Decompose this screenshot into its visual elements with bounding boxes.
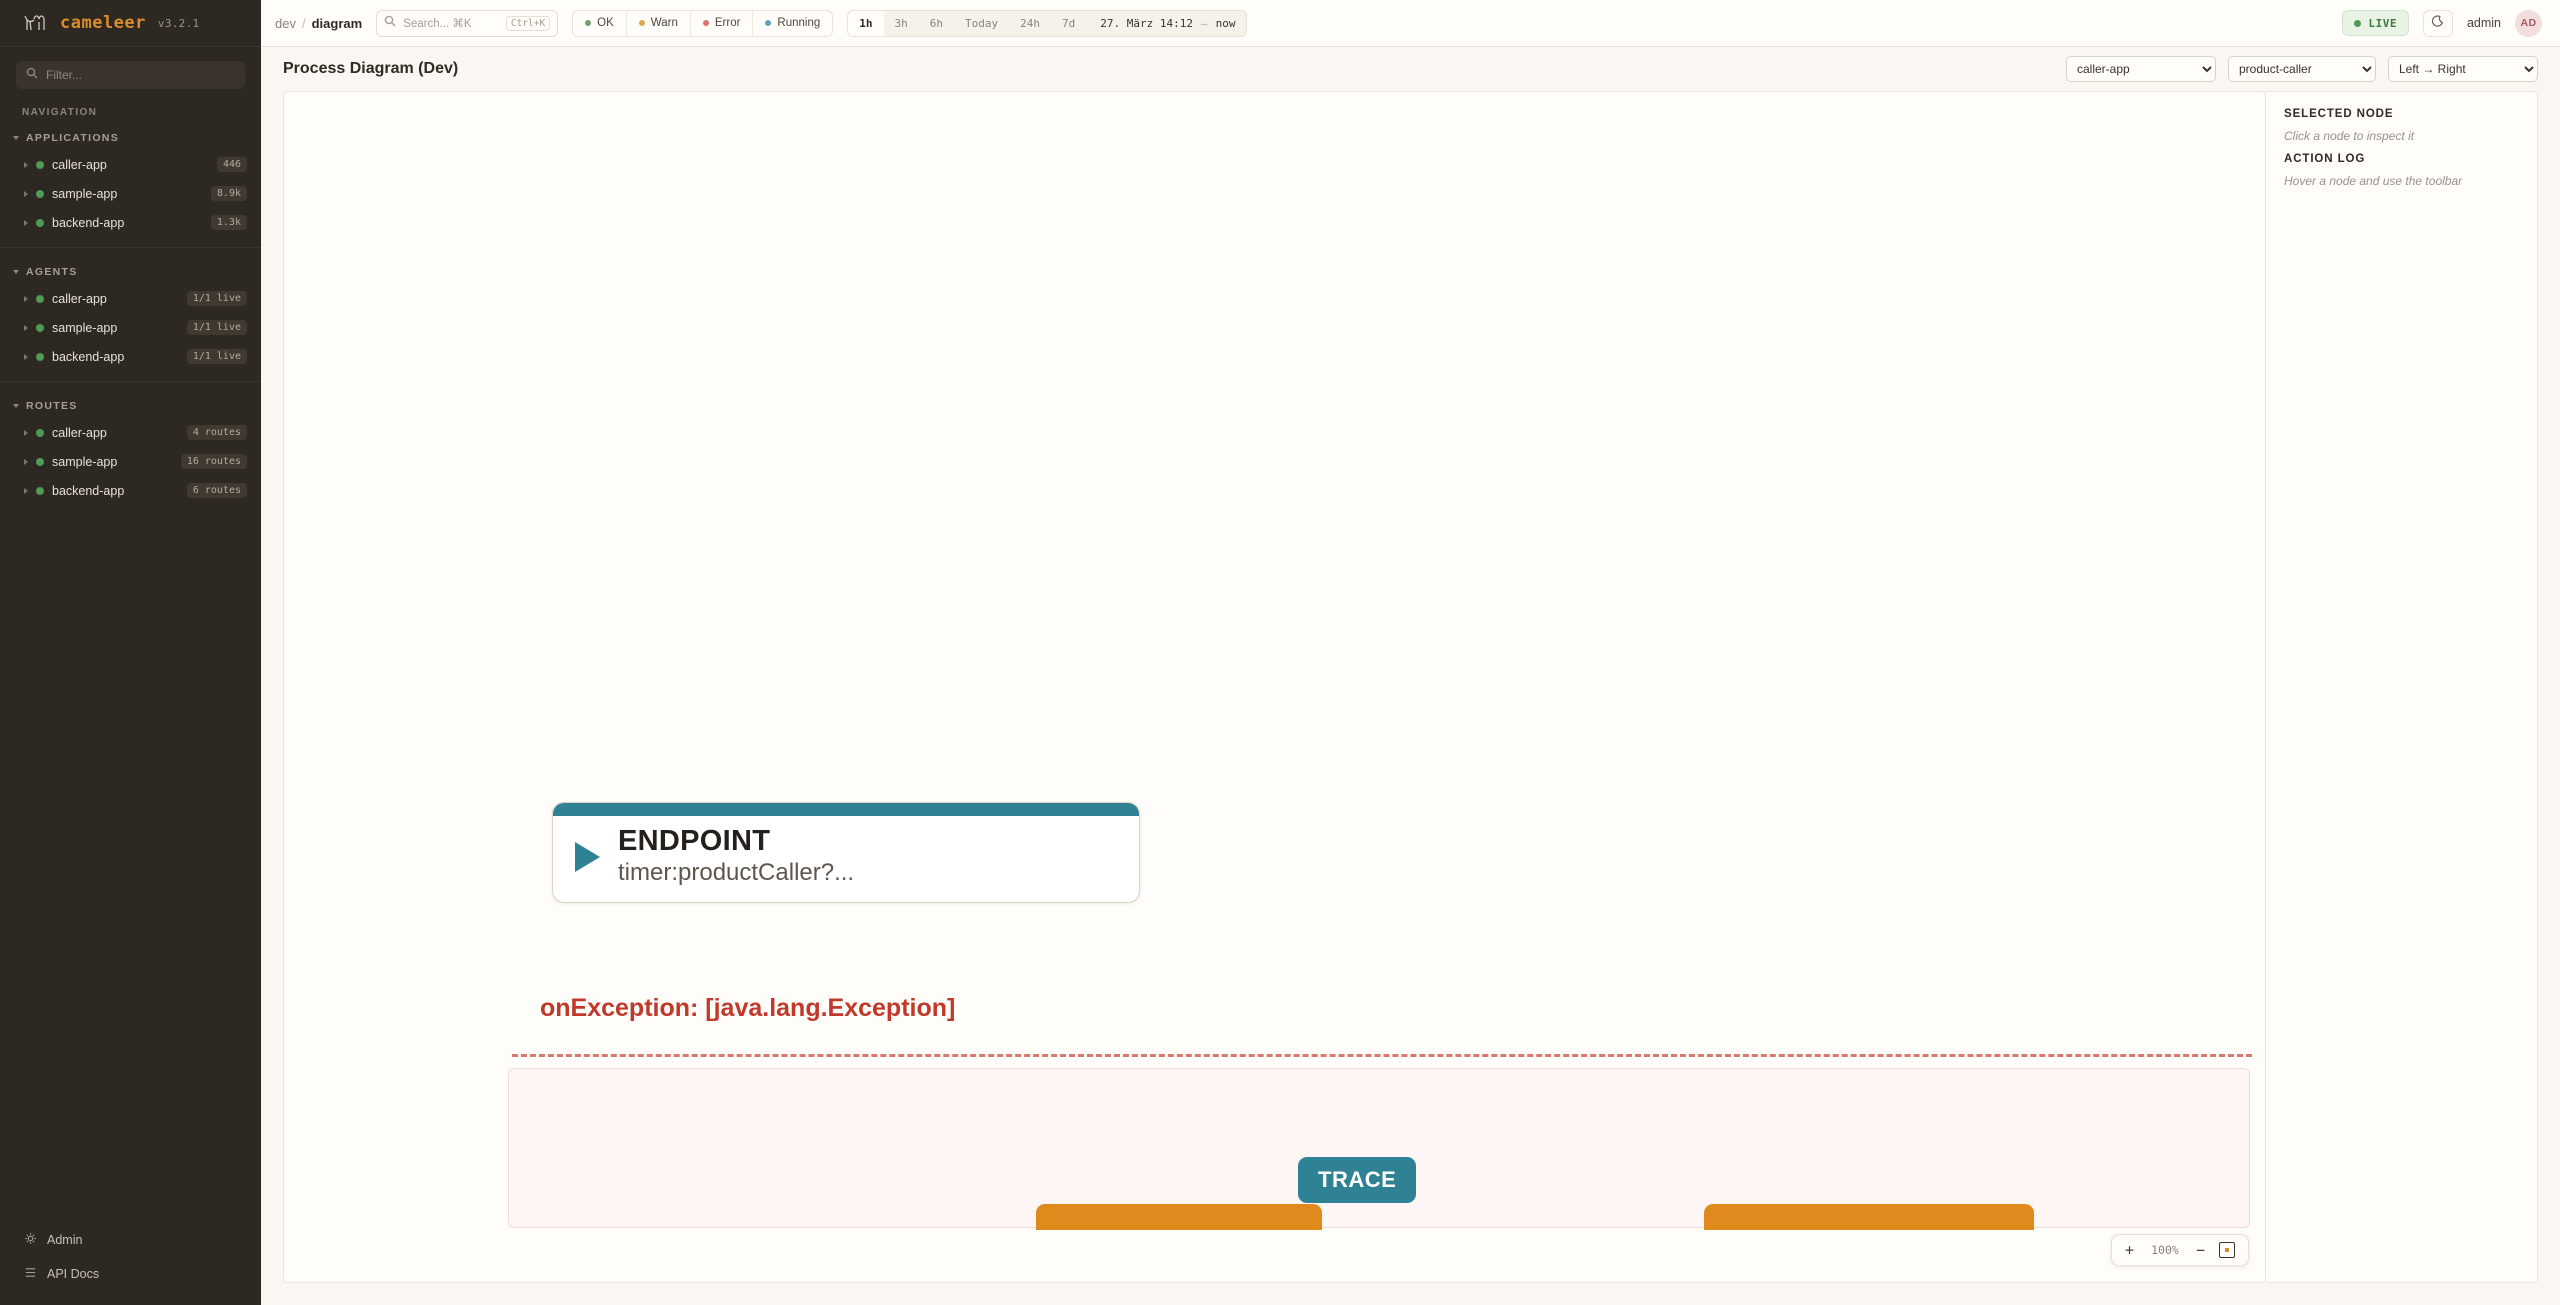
selected-node-hint: Click a node to inspect it <box>2284 129 2519 143</box>
chevron-down-icon <box>13 404 19 408</box>
range-7d[interactable]: 7d <box>1051 11 1086 36</box>
search-input[interactable]: Search... ⌘K Ctrl+K <box>376 10 558 37</box>
filter-input[interactable] <box>46 68 235 82</box>
breadcrumb: dev / diagram <box>275 16 362 31</box>
item-badge: 446 <box>217 157 247 172</box>
moon-icon <box>2431 15 2444 31</box>
main-area: dev / diagram Search... ⌘K Ctrl+K OK <box>261 0 2560 1305</box>
item-label: sample-app <box>52 321 117 335</box>
item-label: sample-app <box>52 455 117 469</box>
date-dash: — <box>1201 17 1208 30</box>
sidebar-item-route-sample-app[interactable]: sample-app 16 routes <box>0 447 261 476</box>
group-header-routes[interactable]: ROUTES <box>0 396 261 418</box>
exception-divider <box>512 1054 2252 1057</box>
diagram-canvas[interactable]: ENDPOINT timer:productCaller?... onExcep… <box>283 91 2266 1283</box>
sidebar-item-app-sample-app[interactable]: sample-app 8.9k <box>0 179 261 208</box>
brand[interactable]: cameleer v3.2.1 <box>0 0 261 47</box>
node-kind: ENDPOINT <box>618 826 854 858</box>
item-label: backend-app <box>52 484 124 498</box>
chevron-down-icon <box>13 136 19 140</box>
zoom-out-button[interactable]: − <box>2196 1243 2205 1258</box>
brand-version: v3.2.1 <box>158 17 200 30</box>
sidebar: cameleer v3.2.1 NAVIGATION APPLICATIONS <box>0 0 261 1305</box>
breadcrumb-current[interactable]: diagram <box>312 16 363 31</box>
node-uri: timer:productCaller?... <box>618 858 854 888</box>
fit-to-screen-icon[interactable] <box>2219 1242 2235 1258</box>
node-accent-bar <box>553 803 1139 816</box>
direction-select[interactable]: Left → Right <box>2388 56 2538 82</box>
group-label: APPLICATIONS <box>26 132 119 144</box>
orange-node-top-bar[interactable] <box>1036 1204 1322 1230</box>
sidebar-item-agent-caller-app[interactable]: caller-app 1/1 live <box>0 284 261 313</box>
filter-container <box>0 47 261 99</box>
node-body: ENDPOINT timer:productCaller?... <box>553 816 1139 902</box>
gear-icon <box>24 1232 37 1248</box>
chevron-right-icon <box>24 488 28 494</box>
status-dot-warn <box>639 20 645 26</box>
action-log-title: ACTION LOG <box>2284 153 2519 165</box>
navigation-heading: NAVIGATION <box>0 99 261 122</box>
zoom-in-button[interactable]: + <box>2125 1243 2134 1258</box>
sidebar-item-admin[interactable]: Admin <box>0 1223 261 1257</box>
inspector-panel: SELECTED NODE Click a node to inspect it… <box>2266 91 2538 1283</box>
search-icon <box>26 66 38 84</box>
node-text-group: ENDPOINT timer:productCaller?... <box>618 826 854 888</box>
sidebar-item-agent-sample-app[interactable]: sample-app 1/1 live <box>0 313 261 342</box>
breadcrumb-env[interactable]: dev <box>275 16 296 31</box>
page-title: Process Diagram (Dev) <box>283 60 458 78</box>
live-dot <box>2354 20 2361 27</box>
app-select[interactable]: caller-app <box>2066 56 2216 82</box>
chevron-right-icon <box>24 354 28 360</box>
search-icon <box>384 14 396 32</box>
group-label: ROUTES <box>26 400 78 412</box>
status-chip-error[interactable]: Error <box>691 11 754 36</box>
item-badge: 6 routes <box>187 483 247 498</box>
content-area: ENDPOINT timer:productCaller?... onExcep… <box>261 91 2560 1305</box>
sidebar-item-app-caller-app[interactable]: caller-app 446 <box>0 150 261 179</box>
chevron-right-icon <box>24 325 28 331</box>
item-label: backend-app <box>52 216 124 230</box>
item-label: caller-app <box>52 292 107 306</box>
topbar: dev / diagram Search... ⌘K Ctrl+K OK <box>261 0 2560 47</box>
live-indicator[interactable]: LIVE <box>2342 10 2409 36</box>
status-dot <box>36 458 44 466</box>
avatar[interactable]: AD <box>2515 10 2542 37</box>
status-dot <box>36 219 44 227</box>
filter-box[interactable] <box>16 61 245 89</box>
item-badge: 1/1 live <box>187 349 247 364</box>
brand-name: cameleer <box>60 13 146 33</box>
date-to: now <box>1216 17 1236 30</box>
item-badge: 1/1 live <box>187 291 247 306</box>
breadcrumb-separator: / <box>302 16 306 31</box>
chip-label: Warn <box>651 17 678 29</box>
item-label: backend-app <box>52 350 124 364</box>
range-3h[interactable]: 3h <box>884 11 919 36</box>
sidebar-group-agents: AGENTS caller-app 1/1 live sample-app 1/… <box>0 247 261 371</box>
group-header-agents[interactable]: AGENTS <box>0 262 261 284</box>
route-select[interactable]: product-caller <box>2228 56 2376 82</box>
status-filter-group: OK Warn Error Running <box>572 10 833 37</box>
status-dot-error <box>703 20 709 26</box>
sidebar-item-api-docs[interactable]: API Docs <box>0 1257 261 1291</box>
diagram-selectors: caller-app product-caller Left → Right <box>2066 56 2538 82</box>
chip-label: OK <box>597 17 614 29</box>
range-today[interactable]: Today <box>954 11 1009 36</box>
sidebar-footer: Admin API Docs <box>0 1223 261 1305</box>
item-label: sample-app <box>52 187 117 201</box>
book-icon <box>24 1266 37 1282</box>
admin-label: Admin <box>47 1233 82 1247</box>
zoom-controls: + 100% − <box>2111 1234 2249 1266</box>
chevron-down-icon <box>13 270 19 274</box>
search-placeholder: Search... ⌘K <box>403 16 471 30</box>
status-dot <box>36 353 44 361</box>
play-icon <box>575 842 600 872</box>
chevron-right-icon <box>24 191 28 197</box>
chip-label: Error <box>715 17 741 29</box>
status-dot-running <box>765 20 771 26</box>
theme-toggle-button[interactable] <box>2423 10 2453 37</box>
date-range-display[interactable]: 27. März 14:12 — now <box>1086 11 1246 36</box>
zoom-level: 100% <box>2148 1243 2182 1257</box>
orange-node-top-bar-2[interactable] <box>1704 1204 2034 1230</box>
status-dot <box>36 429 44 437</box>
diagram-node-endpoint[interactable]: ENDPOINT timer:productCaller?... <box>552 802 1140 903</box>
live-label: LIVE <box>2368 17 2397 30</box>
status-dot <box>36 190 44 198</box>
chevron-right-icon <box>24 430 28 436</box>
range-24h[interactable]: 24h <box>1009 11 1051 36</box>
chevron-right-icon <box>24 162 28 168</box>
range-1h[interactable]: 1h <box>848 11 883 36</box>
status-dot-ok <box>585 20 591 26</box>
user-name: admin <box>2467 16 2501 30</box>
status-dot <box>36 161 44 169</box>
action-log-hint: Hover a node and use the toolbar <box>2284 174 2519 188</box>
group-header-applications[interactable]: APPLICATIONS <box>0 128 261 150</box>
selected-node-title: SELECTED NODE <box>2284 108 2519 120</box>
chevron-right-icon <box>24 459 28 465</box>
status-chip-warn[interactable]: Warn <box>627 11 691 36</box>
status-chip-ok[interactable]: OK <box>573 11 627 36</box>
date-from: 27. März 14:12 <box>1100 17 1193 30</box>
item-badge: 1/1 live <box>187 320 247 335</box>
chevron-right-icon <box>24 296 28 302</box>
chevron-right-icon <box>24 220 28 226</box>
exception-label: onException: [java.lang.Exception] <box>540 994 955 1023</box>
item-badge: 1.3k <box>211 215 247 230</box>
item-label: caller-app <box>52 426 107 440</box>
status-dot <box>36 324 44 332</box>
status-dot <box>36 295 44 303</box>
sidebar-group-routes: ROUTES caller-app 4 routes sample-app 16… <box>0 381 261 505</box>
time-range-group: 1h 3h 6h Today 24h 7d 27. März 14:12 — n… <box>847 10 1247 37</box>
group-label: AGENTS <box>26 266 78 278</box>
sidebar-item-route-backend-app[interactable]: backend-app 6 routes <box>0 476 261 505</box>
sidebar-group-applications: APPLICATIONS caller-app 446 sample-app 8… <box>0 122 261 237</box>
api-docs-label: API Docs <box>47 1267 99 1281</box>
status-dot <box>36 487 44 495</box>
item-label: caller-app <box>52 158 107 172</box>
search-shortcut: Ctrl+K <box>506 16 550 31</box>
item-badge: 8.9k <box>211 186 247 201</box>
range-6h[interactable]: 6h <box>919 11 954 36</box>
sidebar-item-route-caller-app[interactable]: caller-app 4 routes <box>0 418 261 447</box>
trace-badge[interactable]: TRACE <box>1298 1157 1416 1203</box>
camel-icon <box>22 12 48 34</box>
item-badge: 16 routes <box>181 454 247 469</box>
app-root: cameleer v3.2.1 NAVIGATION APPLICATIONS <box>0 0 2560 1305</box>
chip-label: Running <box>777 17 820 29</box>
page-header: Process Diagram (Dev) caller-app product… <box>261 47 2560 91</box>
item-badge: 4 routes <box>187 425 247 440</box>
sidebar-item-agent-backend-app[interactable]: backend-app 1/1 live <box>0 342 261 371</box>
status-chip-running[interactable]: Running <box>753 11 832 36</box>
sidebar-item-app-backend-app[interactable]: backend-app 1.3k <box>0 208 261 237</box>
